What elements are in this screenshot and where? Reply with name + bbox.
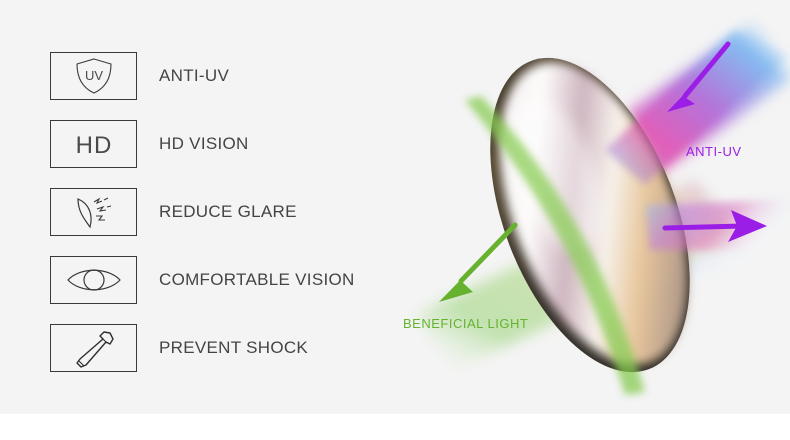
feature-row: COMFORTABLE VISION bbox=[50, 255, 410, 305]
uv-shield-icon: UV bbox=[50, 52, 137, 100]
hammer-icon bbox=[50, 324, 137, 372]
hd-text-icon: HD bbox=[50, 120, 137, 168]
lens-feature-banner: UV ANTI-UV HD HD VISION bbox=[0, 0, 790, 440]
hd-caption: HD bbox=[75, 132, 112, 159]
feature-label: HD VISION bbox=[159, 134, 249, 154]
beneficial-light-label: BENEFICIAL LIGHT bbox=[403, 316, 528, 331]
uv-shield-caption: UV bbox=[84, 68, 102, 83]
incoming-uv-beam bbox=[605, 30, 790, 185]
feature-row: UV ANTI-UV bbox=[50, 51, 410, 101]
feature-label: ANTI-UV bbox=[159, 66, 229, 86]
feature-label: COMFORTABLE VISION bbox=[159, 270, 355, 290]
glare-reduction-icon bbox=[50, 188, 137, 236]
feature-list: UV ANTI-UV HD HD VISION bbox=[50, 51, 410, 391]
feature-row: REDUCE GLARE bbox=[50, 187, 410, 237]
feature-label: REDUCE GLARE bbox=[159, 202, 297, 222]
feature-label: PREVENT SHOCK bbox=[159, 338, 308, 358]
feature-row: HD HD VISION bbox=[50, 119, 410, 169]
feature-row: PREVENT SHOCK bbox=[50, 323, 410, 373]
anti-uv-label: ANTI-UV bbox=[686, 144, 742, 159]
lens-artwork bbox=[395, 0, 790, 440]
eye-icon bbox=[50, 256, 137, 304]
bottom-white-strip bbox=[0, 414, 790, 440]
